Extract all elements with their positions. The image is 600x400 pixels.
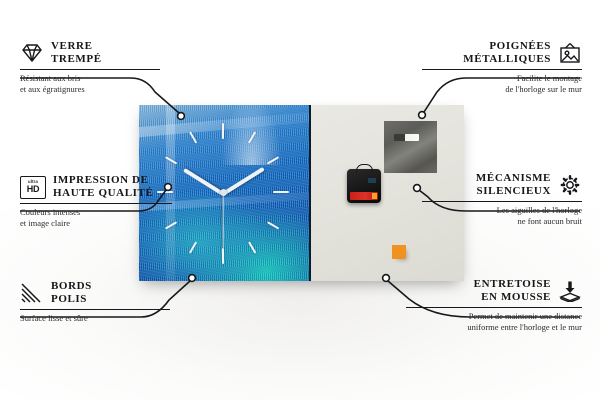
feature-title: BORDS POLIS (51, 280, 92, 306)
feature-description: Facilite le montage de l'horloge sur le … (422, 73, 582, 94)
connector-endpoint (178, 113, 185, 120)
feature-divider (422, 69, 582, 70)
feature-description: Permet de maintenir une distance uniform… (406, 311, 582, 332)
press-down-foam-icon (558, 280, 582, 302)
feature-header: MÉCANISME SILENCIEUX (422, 172, 582, 198)
connector-endpoint (189, 275, 196, 282)
connector-endpoint (419, 112, 426, 119)
feature-header: ultra HD IMPRESSION DE HAUTE QUALITÉ (20, 174, 172, 200)
feature-verre-trempe: VERRE TREMPÉ Résistant aux bris et aux é… (20, 40, 160, 94)
feature-divider (20, 69, 160, 70)
feature-divider (20, 309, 170, 310)
feature-impression-haute-qualite: ultra HD IMPRESSION DE HAUTE QUALITÉ Cou… (20, 174, 172, 228)
feature-title: VERRE TREMPÉ (51, 40, 102, 66)
ultra-hd-icon: ultra HD (20, 176, 46, 199)
feature-header: BORDS POLIS (20, 280, 170, 306)
feature-divider (422, 201, 582, 202)
feature-divider (20, 203, 172, 204)
connector-endpoint (414, 185, 421, 192)
feature-description: Couleurs intenses et image claire (20, 207, 172, 228)
feature-description: Surface lisse et sûre (20, 313, 170, 324)
feature-title: ENTRETOISE EN MOUSSE (474, 278, 551, 304)
feature-poignees-metalliques: POIGNÉES MÉTALLIQUES Facilite le montage… (422, 40, 582, 94)
connector-endpoint (383, 275, 390, 282)
diamond-icon (20, 42, 44, 64)
feature-mecanisme-silencieux: MÉCANISME SILENCIEUX Les aiguilles de l'… (422, 172, 582, 226)
feature-description: Résistant aux bris et aux égratignures (20, 73, 160, 94)
ultra-hd-icon-bottom-label: HD (27, 185, 39, 194)
feature-description: Les aiguilles de l'horloge ne font aucun… (422, 205, 582, 226)
feature-title: POIGNÉES MÉTALLIQUES (463, 40, 551, 66)
feature-header: POIGNÉES MÉTALLIQUES (422, 40, 582, 66)
feature-title: MÉCANISME SILENCIEUX (476, 172, 551, 198)
feature-entretoise-en-mousse: ENTRETOISE EN MOUSSE Permet de maintenir… (406, 278, 582, 332)
feature-header: VERRE TREMPÉ (20, 40, 160, 66)
picture-frame-hanging-icon (558, 42, 582, 64)
feature-header: ENTRETOISE EN MOUSSE (406, 278, 582, 304)
feature-bords-polis: BORDS POLIS Surface lisse et sûre (20, 280, 170, 324)
gear-icon (558, 174, 582, 196)
polished-edges-icon (20, 282, 44, 304)
feature-title: IMPRESSION DE HAUTE QUALITÉ (53, 174, 153, 200)
feature-divider (406, 307, 582, 308)
infographic-canvas: VERRE TREMPÉ Résistant aux bris et aux é… (0, 0, 600, 400)
